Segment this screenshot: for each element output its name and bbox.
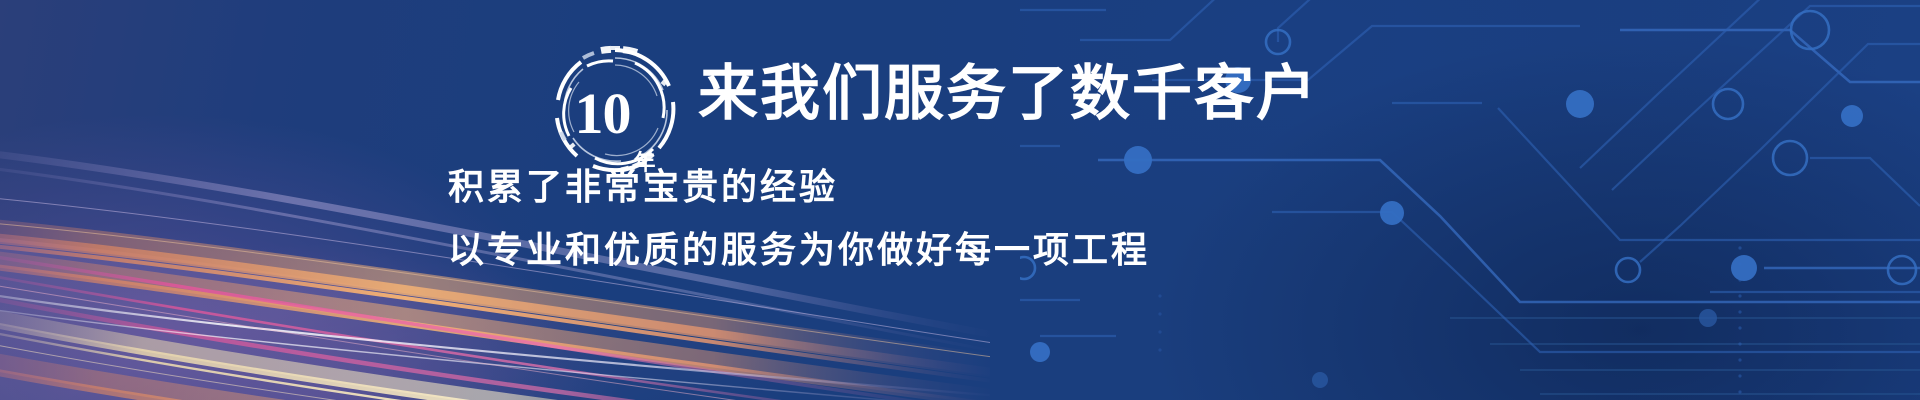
background-purple-glow	[0, 0, 1920, 400]
badge-label: 10 年	[549, 48, 681, 180]
badge-number: 10	[574, 85, 630, 143]
anniversary-badge: 10 年	[549, 44, 681, 176]
badge-unit: 年	[633, 152, 655, 180]
promo-banner: 10 年 来我们服务了数千客户 积累了非常宝贵的经验 以专业和优质的服务为你做好…	[0, 0, 1920, 400]
